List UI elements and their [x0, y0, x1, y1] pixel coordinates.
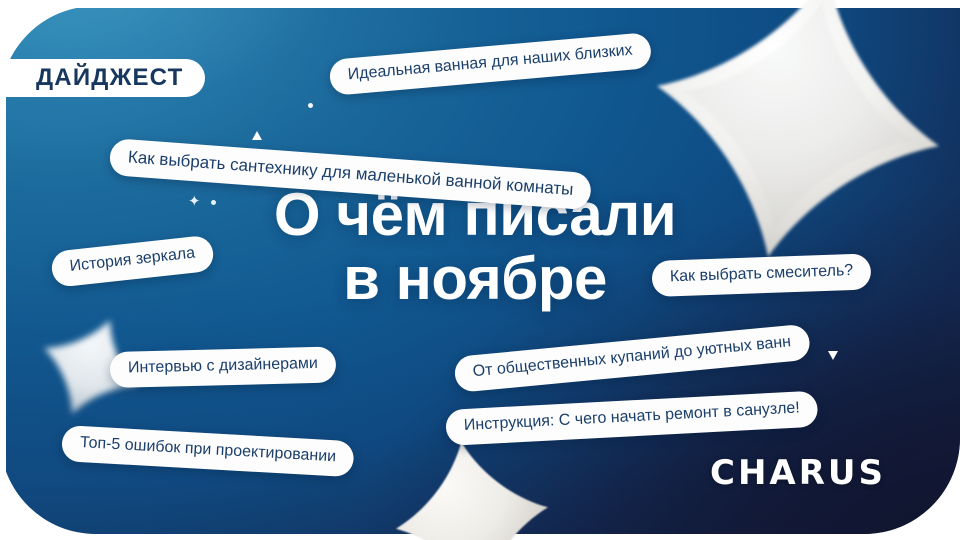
pill-tail: [252, 131, 262, 140]
article-pill-designer-interview[interactable]: Интервью с дизайнерами: [110, 346, 337, 388]
digest-badge: ДАЙДЖЕСТ: [0, 59, 205, 97]
pill-tail: [828, 351, 838, 360]
digest-badge-label: ДАЙДЖЕСТ: [36, 66, 183, 90]
charus-logo: CHARUS: [710, 456, 886, 490]
digest-banner: ✦ ДАЙДЖЕСТ О чём писали в ноябре Идеальн…: [0, 0, 960, 540]
headline-line-2: в ноябре: [230, 250, 720, 308]
page-title: О чём писали в ноябре: [230, 186, 720, 308]
article-pill-how-to-pick-mixer[interactable]: Как выбрать смеситель?: [651, 253, 871, 297]
